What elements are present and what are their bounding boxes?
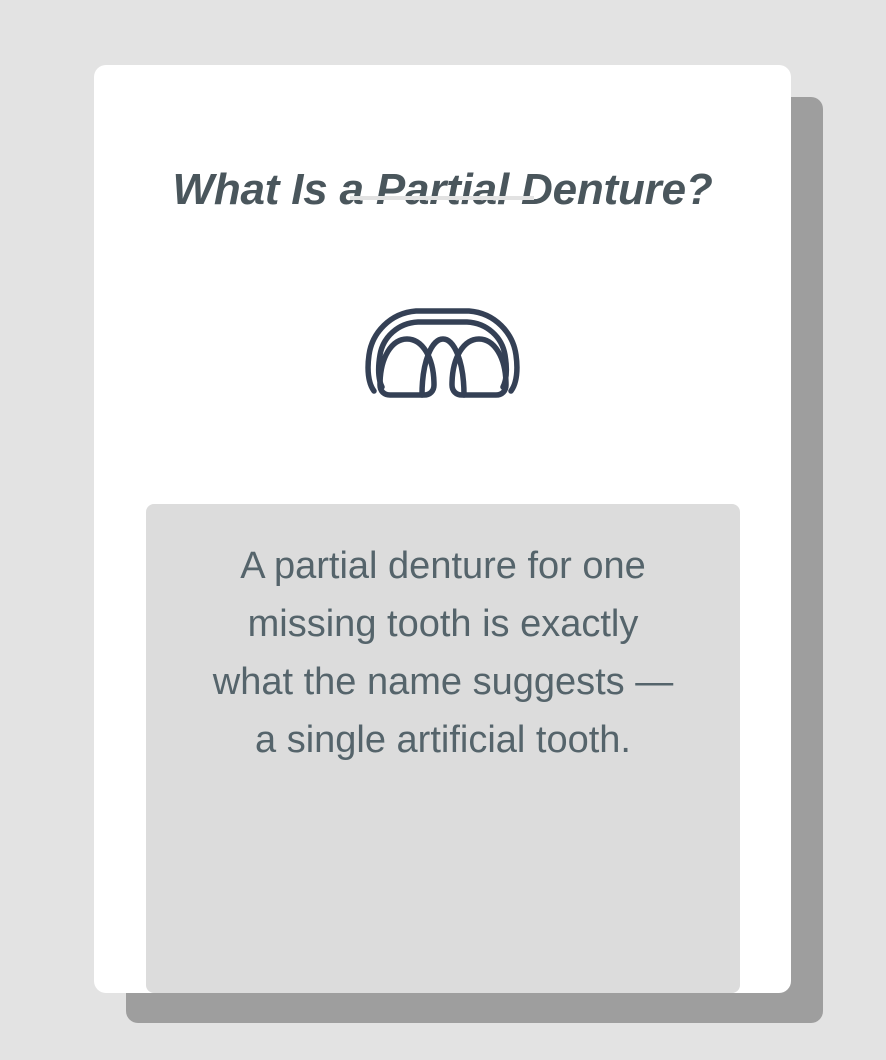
title-divider: [350, 196, 534, 200]
slide-stage: What Is a Partial Denture? A partial den…: [0, 0, 886, 1060]
body-text-line: missing tooth is exactly: [146, 595, 740, 653]
body-text-line: a single artificial tooth.: [146, 711, 740, 769]
body-text-line: A partial denture for one: [146, 537, 740, 595]
denture-icon-svg: [360, 305, 525, 400]
body-panel: A partial denture for one missing tooth …: [146, 504, 740, 993]
info-card: What Is a Partial Denture? A partial den…: [94, 65, 791, 993]
body-text: A partial denture for one missing tooth …: [146, 537, 740, 769]
denture-icon: [360, 305, 525, 400]
body-text-line: what the name suggests —: [146, 653, 740, 711]
page-title: What Is a Partial Denture?: [94, 164, 791, 216]
